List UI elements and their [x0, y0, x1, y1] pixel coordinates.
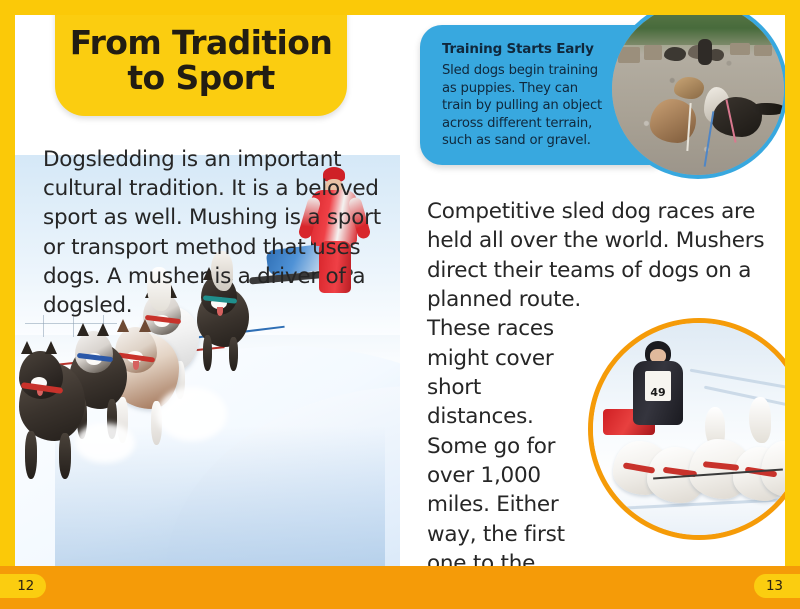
photo-kennel [644, 45, 662, 60]
photo-kennel [754, 45, 772, 56]
right-body-text-narrow: These races might cover short distances.… [427, 314, 592, 566]
photo-husky-head [75, 331, 113, 373]
photo-husky-tongue [133, 361, 139, 370]
photo-husky-ear [45, 341, 57, 354]
callout-body-text: Sled dogs begin training as puppies. The… [442, 62, 607, 150]
photo-husky-ear [21, 341, 33, 354]
photo-dog-distant [664, 47, 686, 61]
photo-husky-leg [59, 433, 71, 479]
photo-dog-foreground [712, 97, 762, 137]
photo-husky-leg [203, 335, 212, 371]
photo-husky-leg [229, 337, 238, 371]
photo-husky-ear [139, 319, 151, 332]
page-number-tab-left: 12 [0, 574, 46, 598]
page-border-right [785, 0, 800, 566]
section-title-banner: From Tradition to Sport [55, 15, 347, 116]
left-page: From Tradition to Sport Dogsledding is a… [15, 15, 400, 566]
photo-husky-ear [77, 323, 89, 336]
photo-dog-midground [674, 77, 704, 99]
right-body-text-wrap: Competitive sled dog races are held all … [427, 197, 772, 566]
right-page-number: 13 [766, 578, 783, 594]
photo-kennel [730, 43, 750, 55]
right-page: Training Starts Early Sled dogs begin tr… [400, 15, 785, 566]
page-title: From Tradition to Sport [69, 26, 333, 96]
book-page-spread: From Tradition to Sport Dogsledding is a… [0, 0, 800, 609]
photo-kennel [618, 47, 640, 63]
page-border-top [0, 0, 800, 15]
photo-snow-spray [157, 387, 227, 441]
photo-husky-ear [117, 319, 129, 332]
photo-dog-tail [752, 103, 785, 115]
page-border-left [0, 0, 15, 566]
page-footer: 12 13 [0, 566, 800, 609]
photo-snow-spray [75, 423, 135, 463]
photo-husky-leg [25, 431, 37, 479]
puppies-training-photo [608, 15, 785, 179]
photo-treeline [612, 15, 784, 45]
photo-person-with-cart [698, 39, 712, 65]
page-number-tab-right: 13 [754, 574, 800, 598]
right-body-text: Competitive sled dog races are held all … [427, 199, 764, 312]
photo-husky-ear [97, 323, 109, 336]
left-page-number: 12 [17, 578, 34, 594]
left-body-text: Dogsledding is an important cultural tra… [43, 145, 383, 321]
